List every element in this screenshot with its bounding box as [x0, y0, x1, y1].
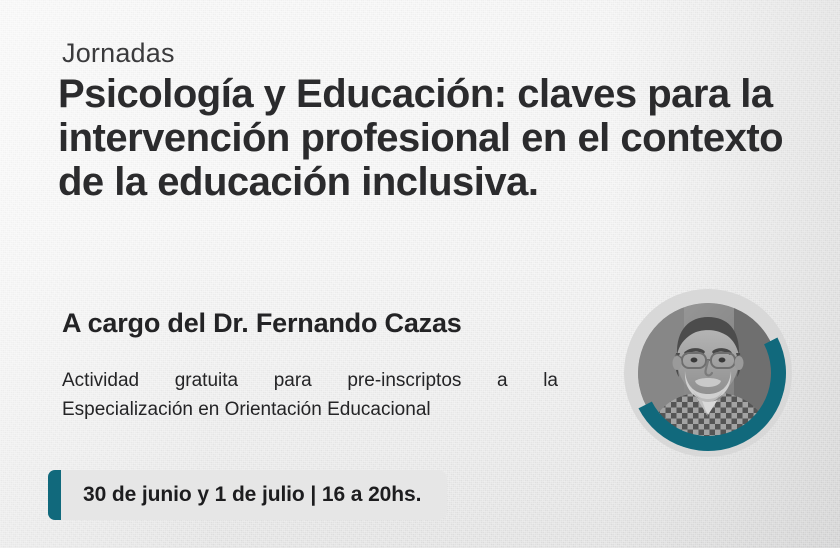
page-title: Psicología y Educación: claves para la i… [58, 72, 798, 204]
speaker-name: A cargo del Dr. Fernando Cazas [62, 308, 462, 339]
description-line-1: Actividad gratuita para pre-inscriptos a… [62, 366, 558, 395]
date-text: 30 de junio y 1 de julio | 16 a 20hs. [61, 470, 447, 520]
date-accent-bar [48, 470, 61, 520]
date-badge: 30 de junio y 1 de julio | 16 a 20hs. [48, 470, 447, 520]
eyebrow-label: Jornadas [62, 38, 175, 69]
description-text: Actividad gratuita para pre-inscriptos a… [62, 366, 558, 424]
speaker-portrait [624, 289, 792, 457]
event-flyer: Jornadas Psicología y Educación: claves … [0, 0, 840, 548]
description-line-2: Especialización en Orientación Educacion… [62, 395, 558, 424]
portrait-accent-arc [610, 275, 807, 472]
